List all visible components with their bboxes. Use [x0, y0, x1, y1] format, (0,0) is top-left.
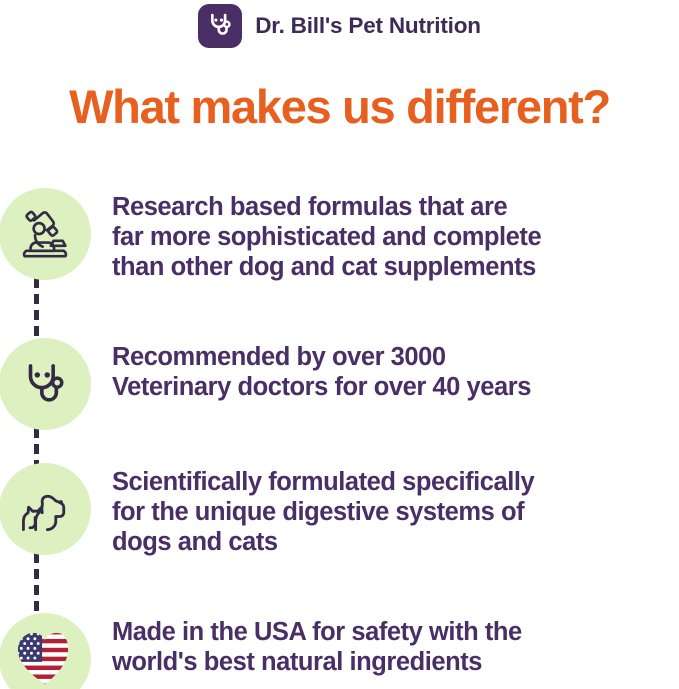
feature-text-cell: Recommended by over 3000 Veterinary doct…: [112, 332, 539, 402]
list-item: Made in the USA for safety with the worl…: [0, 607, 679, 689]
dog-and-cat-icon: [15, 479, 75, 539]
promo-panel: Dr. Bill's Pet Nutrition What makes us d…: [0, 0, 679, 689]
icon-disc: [0, 463, 91, 555]
feature-icon-cell: [0, 332, 112, 430]
icon-disc: [0, 188, 91, 280]
icon-disc: [0, 613, 91, 689]
feature-icon-cell: [0, 607, 112, 689]
feature-text-cell: Research based formulas that are far mor…: [112, 182, 549, 283]
list-item: Scientifically formulated specifically f…: [0, 457, 679, 607]
stethoscope-face-icon: [203, 7, 237, 46]
page-title: What makes us different?: [0, 79, 679, 134]
feature-text-cell: Scientifically formulated specifically f…: [112, 457, 542, 558]
brand-name: Dr. Bill's Pet Nutrition: [255, 13, 481, 39]
connector-line: [34, 553, 39, 611]
list-item: Recommended by over 3000 Veterinary doct…: [0, 332, 679, 457]
connector-line: [34, 278, 39, 336]
feature-icon-cell: [0, 457, 112, 555]
brand-logo-mark: [198, 4, 242, 48]
feature-text: Recommended by over 3000 Veterinary doct…: [112, 342, 531, 402]
icon-disc: [0, 338, 91, 430]
feature-text: Made in the USA for safety with the worl…: [112, 617, 522, 677]
usa-flag-heart-icon: [14, 630, 76, 688]
feature-icon-cell: [0, 182, 112, 280]
feature-text-cell: Made in the USA for safety with the worl…: [112, 607, 530, 677]
feature-text: Research based formulas that are far mor…: [112, 192, 541, 283]
microscope-icon: [16, 205, 74, 263]
list-item: Research based formulas that are far mor…: [0, 182, 679, 332]
stethoscope-face-icon: [16, 355, 74, 413]
feature-list: Research based formulas that are far mor…: [0, 182, 679, 689]
feature-text: Scientifically formulated specifically f…: [112, 467, 534, 558]
brand-header: Dr. Bill's Pet Nutrition: [0, 4, 679, 48]
